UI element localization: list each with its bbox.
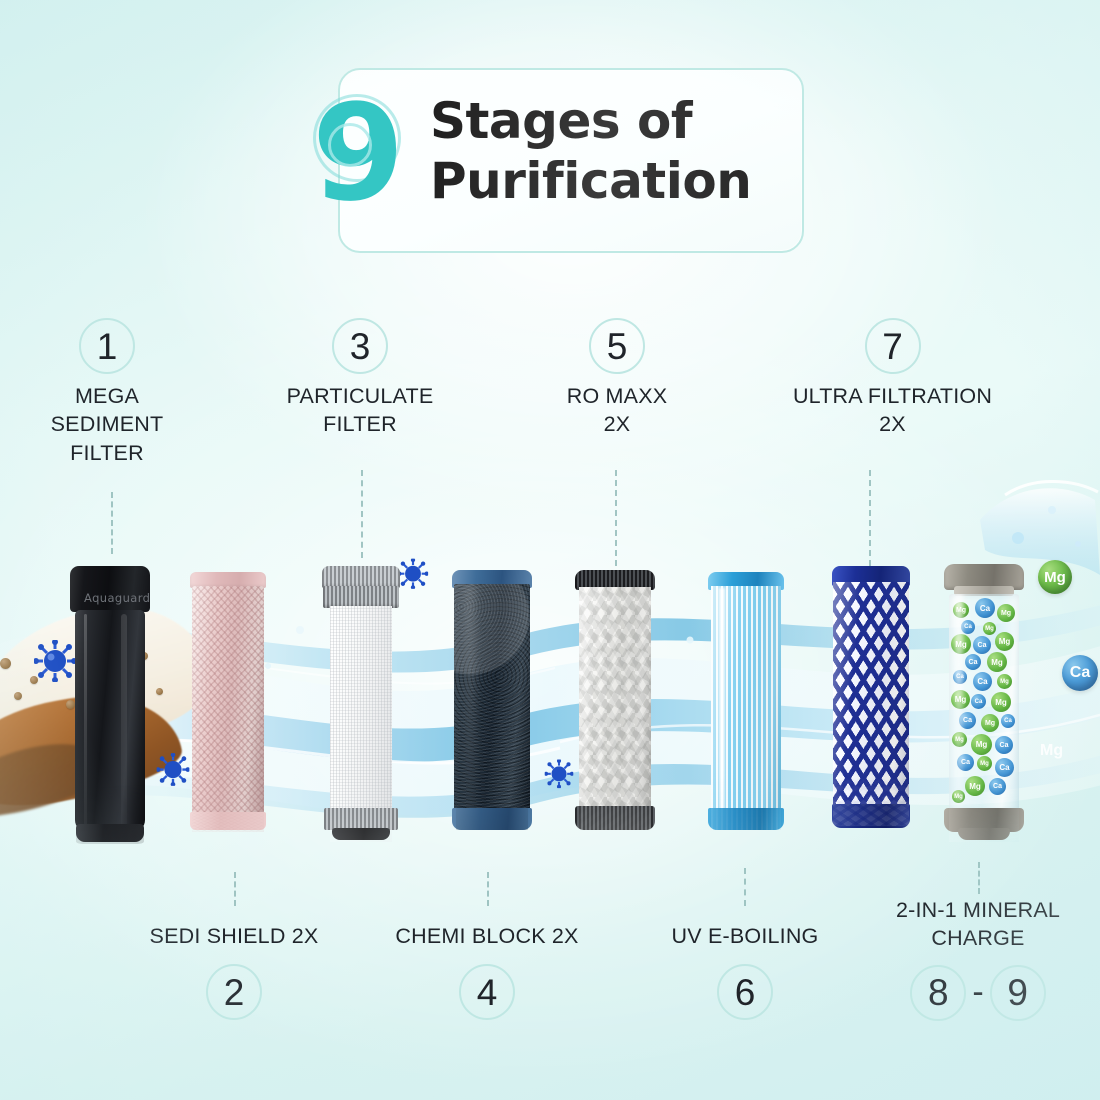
stage-label-6: UV E-BOILING [650, 922, 840, 950]
mineral-ball-ca: Ca [995, 758, 1014, 777]
mineral-ball-mg: Mg [971, 734, 992, 755]
filter-cap-bottom [76, 824, 144, 842]
page-title: Stages of Purification [430, 92, 790, 211]
stage-label-1: MEGA SEDIMENT FILTER [12, 382, 202, 467]
water-wave-svg [0, 480, 1100, 900]
stage-number-6: 6 [717, 964, 773, 1020]
filter-cartridge-uv-e-boiling [708, 572, 784, 834]
filter-cap-top-ring [323, 586, 399, 608]
filter-cap-bottom [452, 808, 532, 830]
mineral-ball-mg: Mg [997, 604, 1015, 622]
mineral-ball-mg: Mg [977, 756, 992, 771]
stage-label-5: RO MAXX 2X [522, 382, 712, 439]
mineral-bubble-mg-2: Mg [1040, 742, 1063, 760]
connector-line-4 [487, 872, 489, 906]
filter-cartridge-mega-sediment: Aquaguard [70, 566, 150, 846]
filter-cartridge-sedi-shield [188, 572, 268, 842]
stage-number-3: 3 [332, 318, 388, 374]
filter-body [330, 606, 392, 810]
stage-block-1: 1 MEGA SEDIMENT FILTER [12, 318, 202, 467]
connector-line-3 [361, 470, 363, 558]
stage-number-dash: - [968, 973, 987, 1012]
mineral-ball-ca: Ca [973, 672, 992, 691]
connector-line-5 [615, 470, 617, 566]
sediment-particle [0, 658, 11, 669]
sediment-particle [30, 676, 38, 684]
stage-label-2: SEDI SHIELD 2X [139, 922, 329, 950]
mineral-bubble-mg: Mg [1038, 560, 1072, 594]
mineral-ball-mg: Mg [991, 692, 1011, 712]
water-wave-graphic [0, 480, 1100, 900]
page-title-line1: Stages of [430, 92, 790, 152]
stage-number-4: 4 [459, 964, 515, 1020]
filter-body [711, 586, 781, 812]
stage-number-9: 9 [990, 965, 1046, 1021]
mineral-ball-mg: Mg [997, 674, 1012, 689]
stage-block-2: SEDI SHIELD 2X 2 [139, 922, 329, 1020]
filter-cartridge-particulate [322, 566, 400, 838]
stage-label-8-9: 2-IN-1 MINERAL CHARGE [878, 896, 1078, 953]
mineral-ball-ca: Ca [1001, 714, 1015, 728]
sediment-particle [156, 688, 163, 695]
stage-label-3: PARTICULATE FILTER [265, 382, 455, 439]
filter-cartridge-ultra-filtration [832, 566, 910, 838]
mineral-ball-ca: Ca [995, 736, 1013, 754]
infographic-canvas: Mg Ca Mg 9 Stages of Purification 1 MEGA… [0, 0, 1100, 1100]
stage-block-8-9: 2-IN-1 MINERAL CHARGE 8 - 9 [878, 896, 1078, 1021]
page-title-line2: Purification [430, 152, 790, 212]
mineral-ball-ca: Ca [989, 778, 1006, 795]
filter-body [75, 610, 145, 832]
sediment-particle [14, 692, 22, 700]
mineral-ball-mg: Mg [965, 776, 985, 796]
stage-block-7: 7 ULTRA FILTRATION 2X [775, 318, 1010, 439]
stage-number-8: 8 [910, 965, 966, 1021]
filter-cap-bottom [832, 804, 910, 828]
mineral-ball-ca: Ca [975, 598, 995, 618]
connector-line-7 [869, 470, 871, 566]
filter-cap-bottom [708, 808, 784, 830]
stage-number-5: 5 [589, 318, 645, 374]
filter-cap-foot [332, 828, 390, 840]
stage-block-5: 5 RO MAXX 2X [522, 318, 712, 439]
mineral-bubble-ca: Ca [1062, 655, 1098, 691]
filter-cartridge-ro-maxx [575, 570, 655, 836]
filter-cap-bottom [575, 806, 655, 830]
virus-particle [545, 760, 574, 792]
stage-block-4: CHEMI BLOCK 2X 4 [392, 922, 582, 1020]
filter-cap-bottom [324, 808, 398, 830]
mineral-ball-mg: Mg [995, 632, 1014, 651]
connector-line-1 [111, 492, 113, 554]
stage-number-1: 1 [79, 318, 135, 374]
stage-label-7: ULTRA FILTRATION 2X [775, 382, 1010, 439]
stage-number-2: 2 [206, 964, 262, 1020]
mineral-bubble-label: Ca [1070, 664, 1090, 682]
filter-body: Mg Ca Mg Ca Mg Mg Ca Mg Ca Mg Ca Ca Mg M… [949, 594, 1019, 812]
filter-body [454, 584, 530, 812]
filter-cartridge-mineral-charge: Mg Ca Mg Ca Mg Mg Ca Mg Ca Mg Ca Ca Mg M… [944, 564, 1024, 842]
connector-line-6 [744, 868, 746, 906]
virus-particle [398, 559, 428, 593]
stage-number-pair-8-9: 8 - 9 [910, 965, 1045, 1021]
mineral-ball-ca: Ca [961, 620, 975, 634]
stage-block-6: UV E-BOILING 6 [650, 922, 840, 1020]
mineral-ball-ca: Ca [965, 654, 981, 670]
mineral-ball-ca: Ca [973, 636, 991, 654]
filter-cap-top [322, 566, 400, 588]
filter-cap-foot [958, 828, 1010, 840]
filter-body [192, 586, 264, 814]
filter-body [579, 587, 651, 809]
mineral-ball-mg: Mg [987, 652, 1007, 672]
stage-label-4: CHEMI BLOCK 2X [392, 922, 582, 950]
filter-cap-top [70, 566, 150, 612]
filter-cartridge-chemi-block [452, 570, 532, 838]
mineral-ball-mg: Mg [981, 714, 999, 732]
stage-number-7: 7 [865, 318, 921, 374]
filter-body [833, 582, 909, 808]
filter-cap-bottom [190, 812, 266, 830]
mineral-ball-ca: Ca [971, 694, 986, 709]
mineral-ball-mg: Mg [983, 622, 996, 635]
ring-outline-inner [328, 123, 372, 167]
sediment-particle [52, 650, 61, 659]
virus-particle [157, 753, 190, 790]
big-number-9: 9 [312, 88, 432, 218]
brand-label: Aquaguard [84, 591, 150, 605]
connector-line-2 [234, 872, 236, 906]
connector-line-8 [978, 862, 980, 894]
mineral-bubble-label: Mg [1040, 742, 1063, 760]
mineral-bubble-label: Mg [1044, 569, 1066, 586]
stage-block-3: 3 PARTICULATE FILTER [265, 318, 455, 439]
